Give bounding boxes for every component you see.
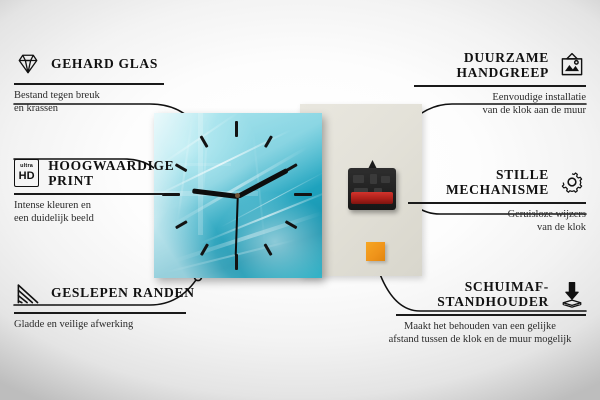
- feature-description: Intense kleuren en een duidelijk beeld: [14, 199, 194, 226]
- feature-title: SCHUIMAF- STANDHOUDER: [374, 279, 549, 309]
- divider: [14, 193, 164, 195]
- hour-marker-6: [235, 254, 238, 270]
- mechanism-detail: [370, 174, 377, 184]
- feature-geslepen-randen: GESLEPEN RANDEN Gladde en veilige afwerk…: [14, 279, 204, 331]
- divider: [408, 202, 586, 204]
- down-arrow-spacer-icon: [558, 280, 586, 308]
- feature-header: ultra HD HOOGWAARDIGE PRINT: [14, 158, 194, 188]
- gear-icon: [558, 168, 586, 196]
- feature-duurzame-handgreep: DUURZAME HANDGREEP Eenvoudige installati…: [390, 50, 586, 118]
- feature-description: Bestand tegen breuk en krassen: [14, 89, 194, 116]
- feature-gehard-glas: GEHARD GLAS Bestand tegen breuk en krass…: [14, 50, 194, 116]
- mechanism-detail: [381, 176, 390, 183]
- infographic-canvas: GEHARD GLAS Bestand tegen breuk en krass…: [0, 0, 600, 400]
- feature-title: GESLEPEN RANDEN: [51, 285, 195, 300]
- divider: [14, 83, 164, 85]
- feature-title: HOOGWAARDIGE PRINT: [48, 158, 194, 188]
- feature-title: DUURZAME HANDGREEP: [390, 50, 549, 80]
- feature-hoogwaardige-print: ultra HD HOOGWAARDIGE PRINT Intense kleu…: [14, 158, 194, 226]
- feature-description: Geruisloze wijzers van de klok: [390, 208, 586, 235]
- hour-marker-12: [235, 121, 238, 137]
- feature-schuimafstandhouder: SCHUIMAF- STANDHOUDER Maakt het behouden…: [374, 279, 586, 347]
- feature-description: Gladde en veilige afwerking: [14, 318, 204, 332]
- feature-header: STILLE MECHANISME: [390, 167, 586, 197]
- divider: [414, 85, 586, 87]
- feature-title: STILLE MECHANISME: [390, 167, 549, 197]
- feature-header: GESLEPEN RANDEN: [14, 279, 204, 307]
- feature-header: GEHARD GLAS: [14, 50, 194, 78]
- mechanism-detail: [353, 175, 364, 183]
- mechanism-battery: [351, 192, 393, 204]
- divider: [396, 314, 586, 316]
- feature-title: GEHARD GLAS: [51, 56, 158, 71]
- picture-hanger-icon: [558, 51, 586, 79]
- diamond-icon: [14, 50, 42, 78]
- foam-spacer-pad: [366, 242, 385, 261]
- feature-header: DUURZAME HANDGREEP: [390, 50, 586, 80]
- feature-stille-mechanisme: STILLE MECHANISME Geruisloze wijzers van…: [390, 167, 586, 235]
- divider: [14, 312, 186, 314]
- feature-description: Maakt het behouden van een gelijke afsta…: [374, 320, 586, 347]
- feather-streak: [174, 211, 322, 263]
- feature-description: Eenvoudige installatie van de klok aan d…: [390, 91, 586, 118]
- clock-center-cap: [235, 193, 240, 198]
- hour-marker-3: [294, 193, 312, 196]
- ultra-hd-icon: ultra HD: [14, 159, 39, 187]
- feature-header: SCHUIMAF- STANDHOUDER: [374, 279, 586, 309]
- ultra-hd-icon-main-label: HD: [19, 171, 35, 182]
- beveled-edges-icon: [14, 279, 42, 307]
